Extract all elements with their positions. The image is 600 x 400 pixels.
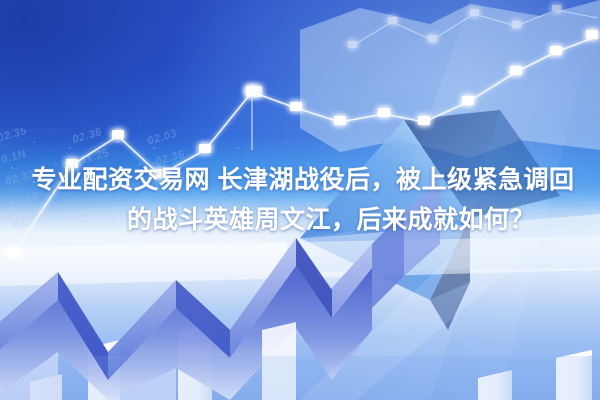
page-title: 专业配资交易网 长津湖战役后，被上级紧急调回 的战斗英雄周文江，后来成就如何？ — [0, 160, 600, 240]
headline-line-2: 的战斗英雄周文江，后来成就如何？ — [0, 200, 600, 240]
banner-canvas: 02.35-25.3229.30.1N02.36-25.3202.32-11.2… — [0, 0, 600, 400]
headline-line-1: 专业配资交易网 长津湖战役后，被上级紧急调回 — [0, 160, 600, 200]
